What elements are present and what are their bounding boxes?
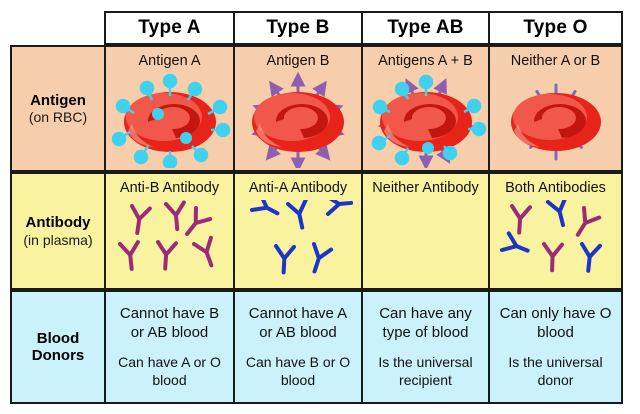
table-row-antigen: Antigen (on RBC) Antigen A bbox=[10, 45, 629, 172]
row-label-donors-main: Blood bbox=[37, 330, 80, 347]
rbc-type-o-graphic bbox=[490, 70, 621, 170]
row-label-antigen-main: Antigen bbox=[30, 92, 86, 109]
donors-ab-line2: Is the universal recipient bbox=[369, 354, 482, 389]
donors-o-line1: Can only have O blood bbox=[496, 305, 615, 343]
rbc-type-b-graphic bbox=[235, 70, 361, 170]
caption-antibody-ab: Neither Antibody bbox=[372, 180, 478, 197]
cell-donors-type-a: Cannot have B or AB blood Can have A or … bbox=[104, 290, 235, 404]
rbc-a-svg bbox=[108, 72, 232, 168]
cell-donors-type-b: Cannot have A or AB blood Can have B or … bbox=[233, 290, 363, 404]
chart-table: Type A Type B Type AB Type O Antigen (on… bbox=[10, 11, 629, 404]
row-label-antibody: Antibody (in plasma) bbox=[10, 172, 106, 290]
antibody-none-graphic bbox=[363, 197, 488, 288]
rbc-body-o bbox=[511, 93, 601, 151]
rbc-ab-svg bbox=[364, 72, 488, 168]
cell-antibody-type-o: Both Antibodies bbox=[488, 172, 623, 290]
rbc-body-a bbox=[124, 92, 216, 152]
header-blank-cell bbox=[10, 11, 106, 45]
cell-antibody-type-ab: Neither Antibody bbox=[361, 172, 490, 290]
cell-antigen-type-ab: Antigens A + B bbox=[361, 45, 490, 172]
caption-antibody-b: Anti-A Antibody bbox=[249, 180, 347, 197]
caption-antigen-ab: Antigens A + B bbox=[378, 53, 473, 70]
both-antibodies-svg bbox=[492, 200, 620, 284]
antibody-y-shapes bbox=[252, 200, 352, 274]
cell-donors-type-ab: Can have any type of blood Is the univer… bbox=[361, 290, 490, 404]
rbc-body-b bbox=[252, 92, 344, 152]
header-label-type-a: Type A bbox=[138, 17, 200, 39]
header-label-type-ab: Type AB bbox=[387, 17, 463, 39]
cell-antibody-type-a: Anti-B Antibody bbox=[104, 172, 235, 290]
caption-antigen-o: Neither A or B bbox=[511, 53, 600, 70]
rbc-o-svg bbox=[494, 72, 618, 168]
donors-a-line2: Can have A or O blood bbox=[112, 354, 227, 389]
blood-type-chart: Type A Type B Type AB Type O Antigen (on… bbox=[0, 0, 640, 414]
row-label-donors-sub: Donors bbox=[32, 347, 85, 364]
antibody-both-graphic bbox=[490, 197, 621, 288]
header-label-type-b: Type B bbox=[266, 17, 329, 39]
donors-o-line2: Is the universal donor bbox=[496, 354, 615, 389]
cell-antigen-type-o: Neither A or B bbox=[488, 45, 623, 172]
donors-ab-line1: Can have any type of blood bbox=[369, 305, 482, 343]
table-row-antibody: Antibody (in plasma) Anti-B Antibody bbox=[10, 172, 629, 290]
cell-antigen-type-b: Antigen B bbox=[233, 45, 363, 172]
rbc-type-a-graphic bbox=[106, 70, 233, 170]
caption-antigen-a: Antigen A bbox=[138, 53, 200, 70]
antibody-y-shapes bbox=[120, 203, 220, 270]
cell-antigen-type-a: Antigen A bbox=[104, 45, 235, 172]
rbc-type-ab-graphic bbox=[363, 70, 488, 170]
caption-antibody-a: Anti-B Antibody bbox=[120, 180, 219, 197]
table-header-row: Type A Type B Type AB Type O bbox=[10, 11, 629, 45]
header-cell-type-ab: Type AB bbox=[361, 11, 490, 45]
donors-b-line1: Cannot have A or AB blood bbox=[241, 305, 355, 343]
antibody-anti-b-graphic bbox=[106, 197, 233, 288]
donors-b-line2: Can have B or O blood bbox=[241, 354, 355, 389]
row-label-antigen: Antigen (on RBC) bbox=[10, 45, 106, 172]
row-label-antibody-sub: (in plasma) bbox=[23, 232, 92, 248]
rbc-b-svg bbox=[236, 72, 360, 168]
row-label-antibody-main: Antibody bbox=[26, 214, 91, 231]
row-label-donors: Blood Donors bbox=[10, 290, 106, 404]
anti-a-svg bbox=[236, 200, 360, 284]
cell-donors-type-o: Can only have O blood Is the universal d… bbox=[488, 290, 623, 404]
caption-antibody-o: Both Antibodies bbox=[505, 180, 606, 197]
donors-a-line1: Cannot have B or AB blood bbox=[112, 305, 227, 343]
caption-antigen-b: Antigen B bbox=[267, 53, 330, 70]
cell-antibody-type-b: Anti-A Antibody bbox=[233, 172, 363, 290]
anti-b-svg bbox=[108, 200, 232, 284]
header-cell-type-o: Type O bbox=[488, 11, 623, 45]
table-row-donors: Blood Donors Cannot have B or AB blood C… bbox=[10, 290, 629, 404]
row-label-antigen-sub: (on RBC) bbox=[29, 109, 87, 125]
header-label-type-o: Type O bbox=[523, 17, 587, 39]
header-cell-type-a: Type A bbox=[104, 11, 235, 45]
antibody-anti-a-graphic bbox=[235, 197, 361, 288]
antibody-y-shapes bbox=[502, 200, 600, 272]
header-cell-type-b: Type B bbox=[233, 11, 363, 45]
